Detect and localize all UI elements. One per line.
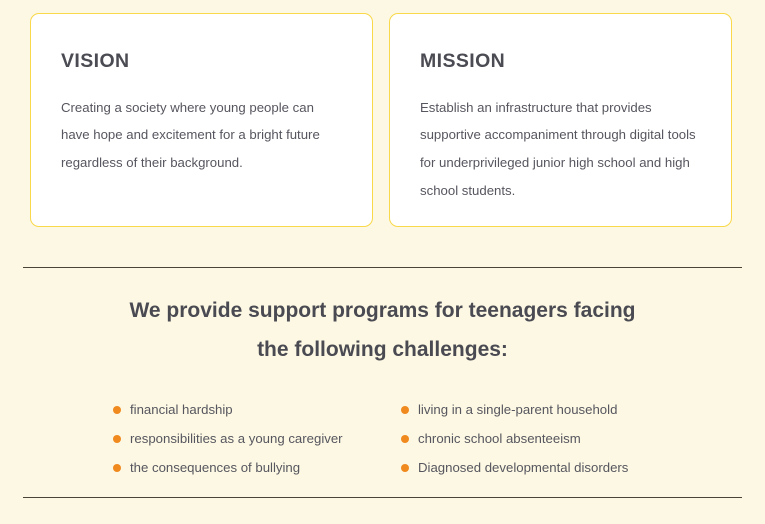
- challenges-heading-line-1: We provide support programs for teenager…: [0, 292, 765, 331]
- bullet-dot-icon: [401, 464, 409, 472]
- mission-card-title: MISSION: [420, 52, 701, 72]
- vision-card-body: Creating a society where young people ca…: [61, 94, 342, 178]
- challenges-column-left: financial hardship responsibilities as a…: [113, 395, 401, 482]
- challenge-label: the consequences of bullying: [130, 461, 300, 474]
- vision-mission-card-row: VISION Creating a society where young pe…: [30, 13, 732, 227]
- bullet-dot-icon: [401, 406, 409, 414]
- mission-card: MISSION Establish an infrastructure that…: [389, 13, 732, 227]
- list-item: living in a single-parent household: [401, 395, 751, 424]
- list-item: the consequences of bullying: [113, 453, 401, 482]
- section-divider-top: [23, 267, 742, 268]
- list-item: Diagnosed developmental disorders: [401, 453, 751, 482]
- challenge-label: responsibilities as a young caregiver: [130, 432, 343, 445]
- bullet-dot-icon: [113, 406, 121, 414]
- challenge-label: living in a single-parent household: [418, 403, 617, 416]
- challenges-column-right: living in a single-parent household chro…: [401, 395, 751, 482]
- list-item: chronic school absenteeism: [401, 424, 751, 453]
- challenge-label: financial hardship: [130, 403, 233, 416]
- challenges-heading-line-2: the following challenges:: [0, 331, 765, 370]
- challenges-section: We provide support programs for teenager…: [0, 292, 765, 369]
- challenges-list: financial hardship responsibilities as a…: [0, 395, 765, 482]
- list-item: responsibilities as a young caregiver: [113, 424, 401, 453]
- challenges-heading: We provide support programs for teenager…: [0, 292, 765, 369]
- bullet-dot-icon: [113, 435, 121, 443]
- vision-card: VISION Creating a society where young pe…: [30, 13, 373, 227]
- vision-card-title: VISION: [61, 52, 342, 72]
- challenge-label: Diagnosed developmental disorders: [418, 461, 628, 474]
- mission-card-body: Establish an infrastructure that provide…: [420, 94, 701, 206]
- section-divider-bottom: [23, 497, 742, 498]
- bullet-dot-icon: [401, 435, 409, 443]
- bullet-dot-icon: [113, 464, 121, 472]
- list-item: financial hardship: [113, 395, 401, 424]
- challenge-label: chronic school absenteeism: [418, 432, 581, 445]
